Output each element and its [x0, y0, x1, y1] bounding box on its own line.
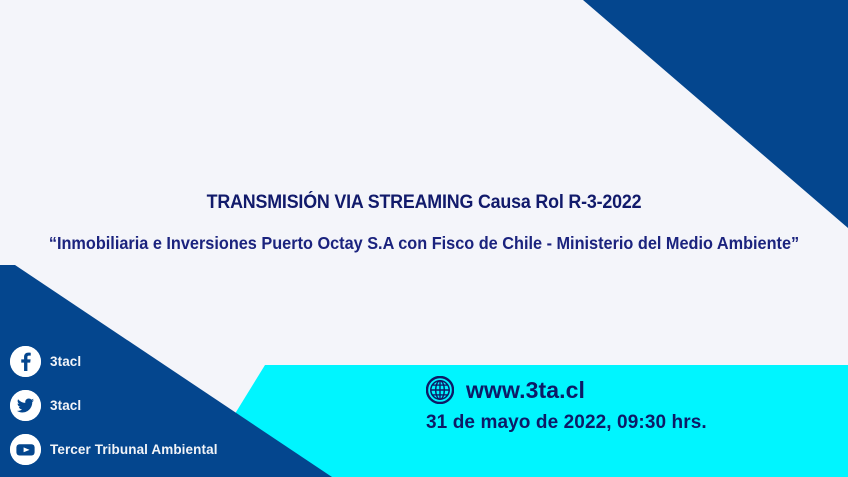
social-item-twitter[interactable]: 3tacl [10, 390, 218, 421]
website-row[interactable]: www.3ta.cl [426, 375, 707, 405]
streaming-announcement-slide: TRANSMISIÓN VIA STREAMING Causa Rol R-3-… [0, 0, 848, 477]
social-item-label: 3tacl [50, 398, 81, 413]
globe-icon [426, 376, 454, 404]
website-url[interactable]: www.3ta.cl [466, 377, 585, 404]
social-item-label: 3tacl [50, 354, 81, 369]
social-item-facebook[interactable]: 3tacl [10, 346, 218, 377]
facebook-icon [10, 346, 41, 377]
twitter-icon [10, 390, 41, 421]
event-datetime: 31 de mayo de 2022, 09:30 hrs. [426, 412, 707, 434]
social-item-youtube[interactable]: Tercer Tribunal Ambiental [10, 434, 218, 465]
case-subtitle: “Inmobiliaria e Inversiones Puerto Octay… [30, 216, 819, 256]
footer-info-block: www.3ta.cl 31 de mayo de 2022, 09:30 hrs… [426, 375, 707, 434]
title-block: TRANSMISIÓN VIA STREAMING Causa Rol R-3-… [0, 190, 848, 256]
page-title: TRANSMISIÓN VIA STREAMING Causa Rol R-3-… [25, 190, 822, 216]
social-links-list: 3tacl 3tacl Tercer Tribunal Ambiental [10, 346, 218, 465]
social-item-label: Tercer Tribunal Ambiental [50, 442, 218, 457]
youtube-icon [10, 434, 41, 465]
